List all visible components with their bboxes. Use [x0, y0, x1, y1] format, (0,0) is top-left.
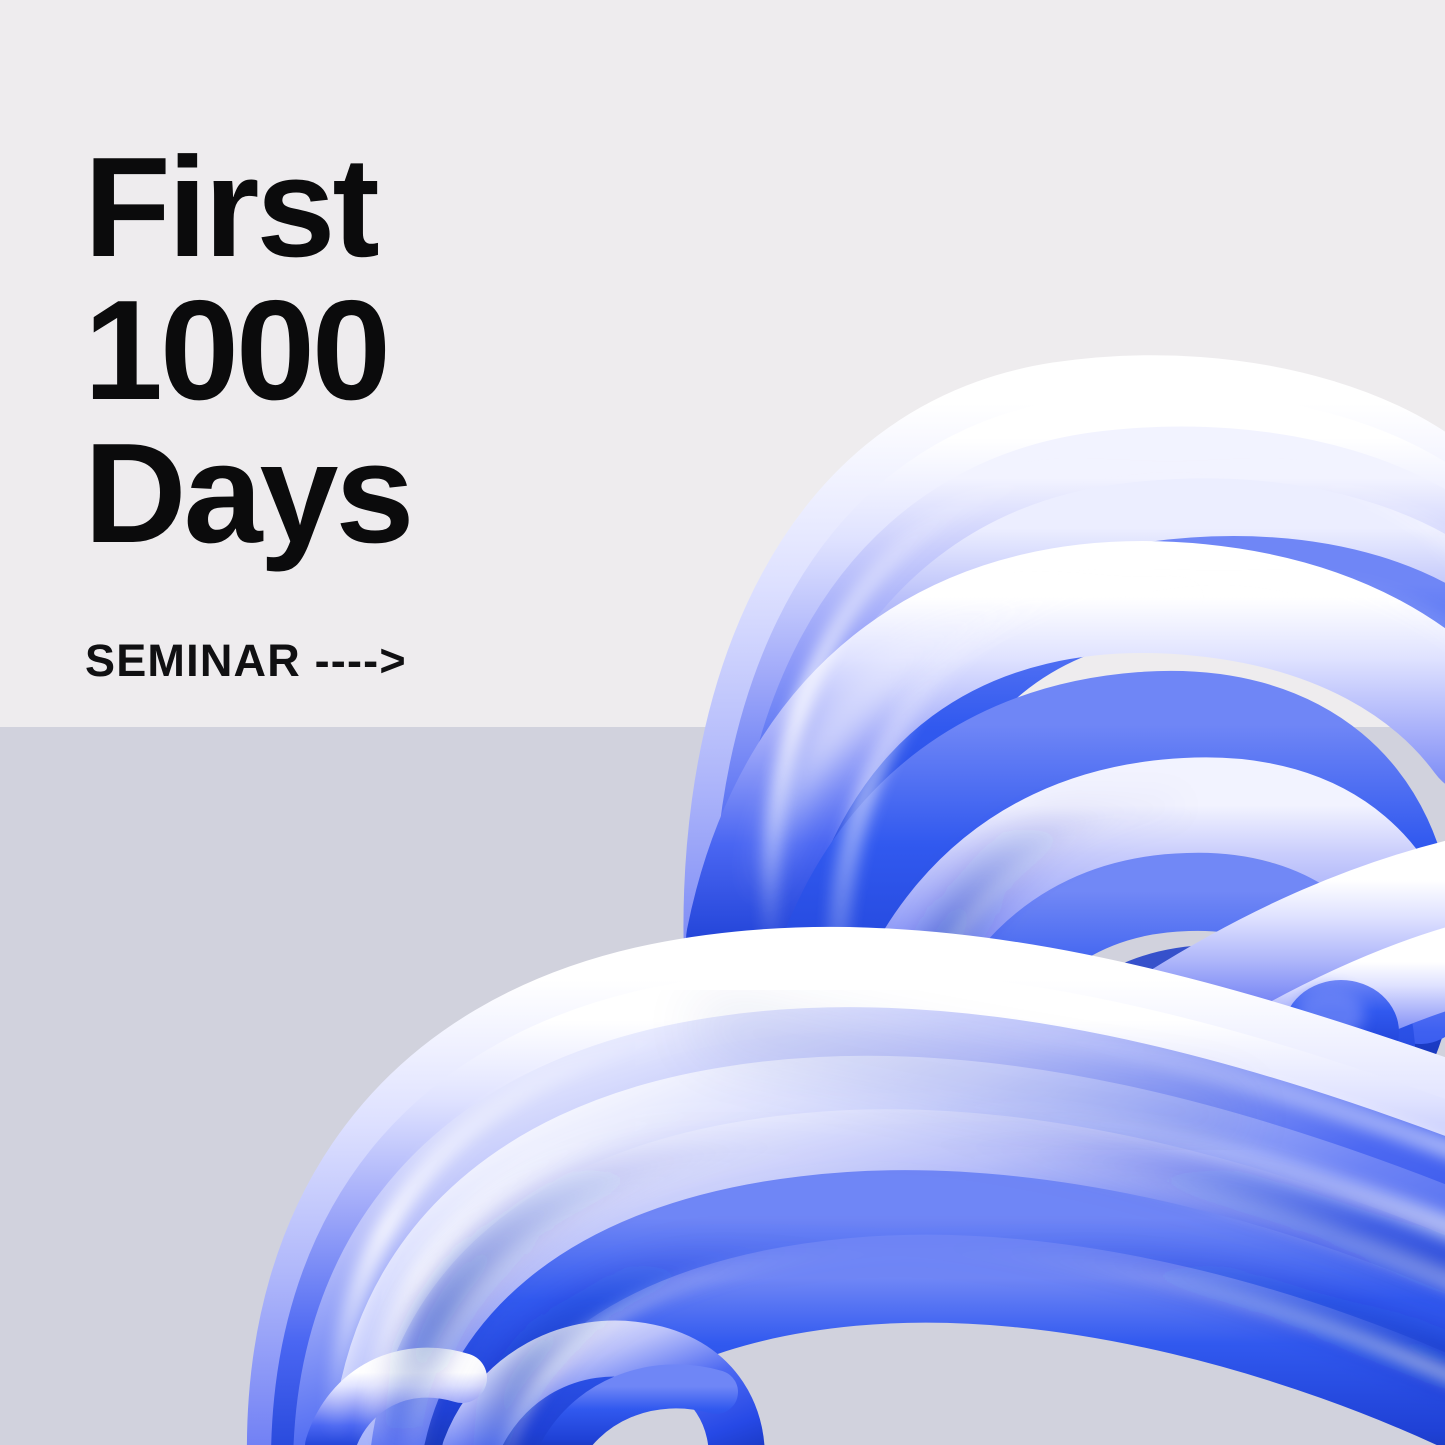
page-title: First 1000 Days	[84, 136, 411, 565]
seminar-kicker: SEMINAR ---->	[85, 637, 407, 685]
poster-canvas: First 1000 Days SEMINAR ---->	[0, 0, 1445, 1445]
